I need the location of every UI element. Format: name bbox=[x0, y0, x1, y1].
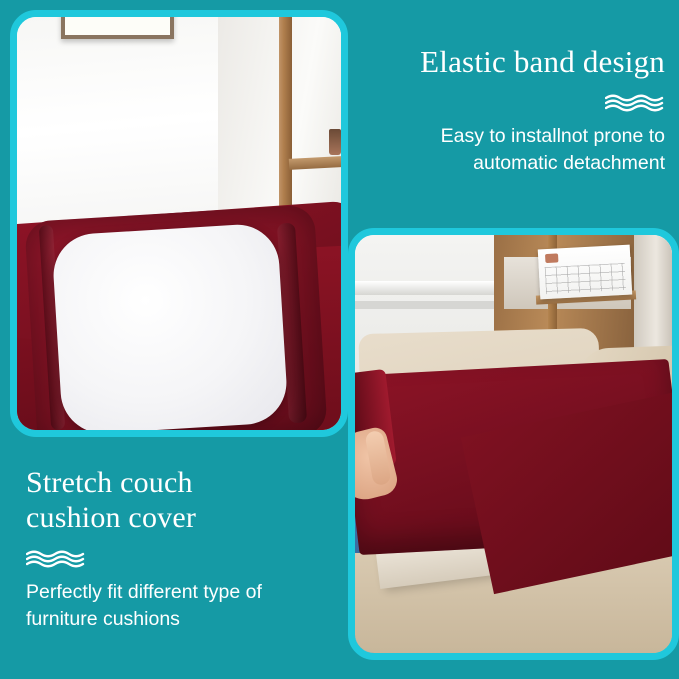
wall-molding-line bbox=[355, 301, 501, 309]
wave-divider-icon bbox=[26, 549, 326, 568]
subtext-easy-to-install: Easy to installnot prone to automatic de… bbox=[360, 123, 665, 177]
subtext-perfectly-fit: Perfectly fit different type of furnitur… bbox=[26, 579, 326, 633]
wall-molding-line bbox=[355, 281, 501, 295]
white-elastic-panel bbox=[51, 222, 289, 430]
wave-divider-icon bbox=[360, 93, 665, 112]
calendar-grid bbox=[545, 263, 626, 294]
text-block-top-right: Elastic band design Easy to installnot p… bbox=[360, 44, 665, 177]
text-block-bottom-left: Stretch couch cushion cover Perfectly fi… bbox=[26, 466, 326, 632]
product-infographic: Elastic band design Easy to installnot p… bbox=[0, 0, 679, 679]
shelf-jar-object bbox=[329, 129, 341, 155]
headline-stretch-couch-cushion-cover: Stretch couch cushion cover bbox=[26, 466, 326, 536]
desk-calendar bbox=[538, 245, 632, 300]
calendar-logo bbox=[545, 253, 558, 263]
photo-panel-top-left bbox=[10, 10, 348, 437]
picture-frame bbox=[61, 17, 174, 39]
burgundy-cushion-cover-underside-photo bbox=[17, 17, 341, 430]
photo-panel-bottom-right bbox=[348, 228, 679, 660]
headline-elastic-band-design: Elastic band design bbox=[360, 44, 665, 80]
hand-pulling-cover-over-cushion-photo bbox=[355, 235, 672, 653]
